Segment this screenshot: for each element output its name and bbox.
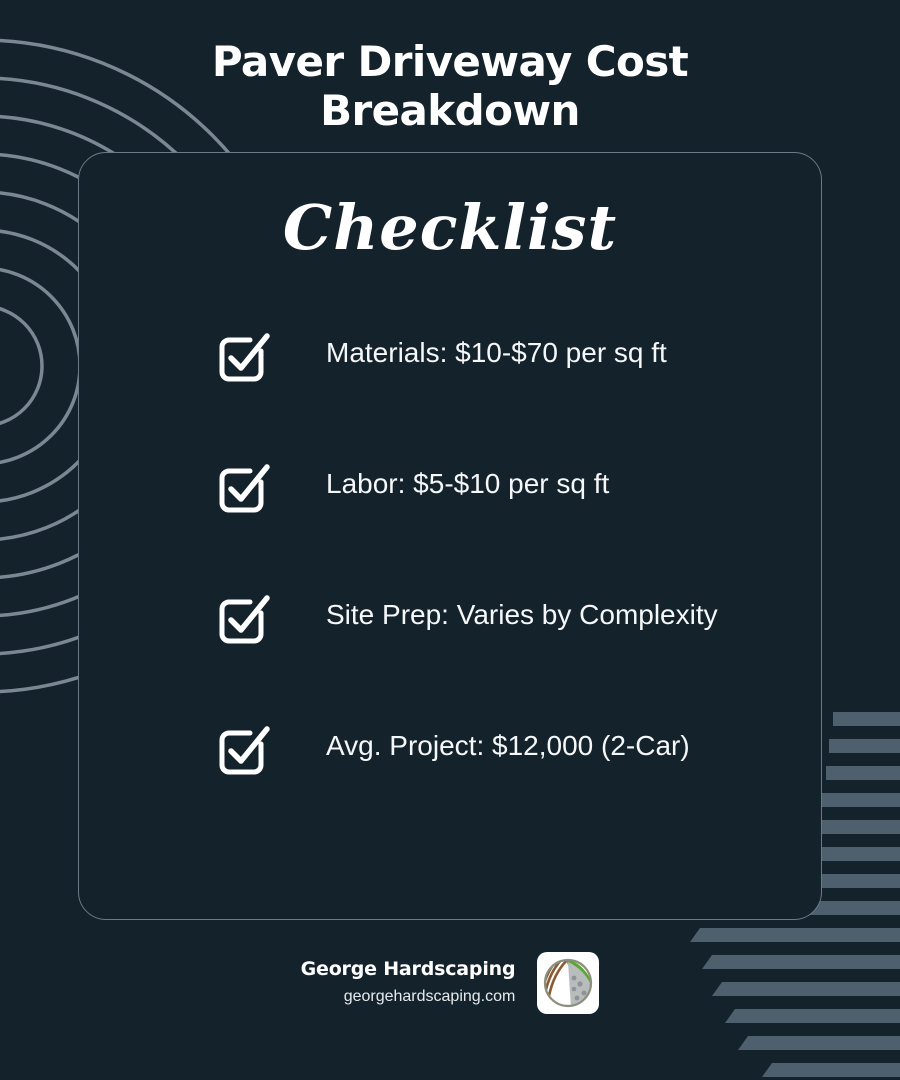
list-item: Site Prep: Varies by Complexity xyxy=(216,593,776,649)
list-item-label: Materials: $10-$70 per sq ft xyxy=(326,331,667,372)
checkbox-checked-icon xyxy=(216,589,274,647)
list-item: Labor: $5-$10 per sq ft xyxy=(216,462,776,518)
page-title-line-1: Paver Driveway Cost xyxy=(0,38,900,87)
checklist-items: Materials: $10-$70 per sq ft Labor: $5-$… xyxy=(216,331,776,780)
list-item: Materials: $10-$70 per sq ft xyxy=(216,331,776,387)
list-item-label: Labor: $5-$10 per sq ft xyxy=(326,462,609,503)
hardscaping-circle-logo-icon xyxy=(537,952,599,1014)
brand-name: George Hardscaping xyxy=(301,958,516,982)
list-item-label: Avg. Project: $12,000 (2-Car) xyxy=(326,724,690,765)
page-title-line-2: Breakdown xyxy=(0,87,900,136)
checklist-heading: Checklist xyxy=(79,197,821,259)
brand-url: georgehardscaping.com xyxy=(301,985,516,1008)
page-title: Paver Driveway Cost Breakdown xyxy=(0,38,900,135)
footer-text-block: George Hardscaping georgehardscaping.com xyxy=(301,958,516,1008)
checkbox-checked-icon xyxy=(216,327,274,385)
poster-canvas: Paver Driveway Cost Breakdown Checklist … xyxy=(0,0,900,1080)
checklist-card: Checklist Materials: $10-$70 per sq ft xyxy=(78,152,822,920)
checkbox-checked-icon xyxy=(216,458,274,516)
list-item-label: Site Prep: Varies by Complexity xyxy=(326,593,718,634)
list-item: Avg. Project: $12,000 (2-Car) xyxy=(216,724,776,780)
checkbox-checked-icon xyxy=(216,720,274,778)
footer-branding: George Hardscaping georgehardscaping.com xyxy=(0,952,900,1014)
